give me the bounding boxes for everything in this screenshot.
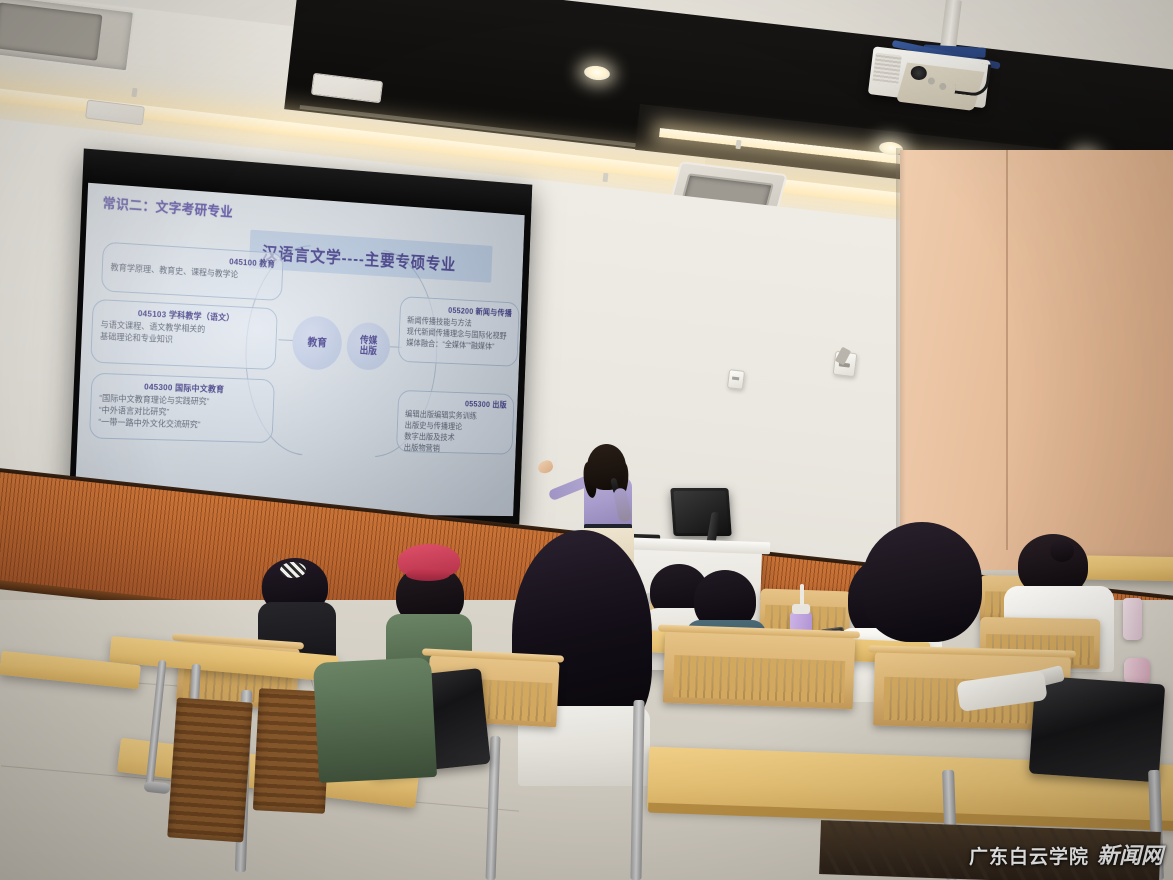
slide-node-045103: 045103 学科教学（语文） 与语文课程、语文教学相关的 基础理论和专业知识 xyxy=(90,299,278,370)
cap-brim xyxy=(406,568,450,581)
sprinkler-icon xyxy=(735,140,741,150)
lecture-hall-photo: 常识二：文字考研专业 汉语言文学----主要专硕专业 教育 传媒 出版 xyxy=(0,0,1173,880)
node-code: 055300 出版 xyxy=(405,396,507,411)
presenter-pointing-hand xyxy=(536,459,554,475)
podium-monitor xyxy=(670,488,731,536)
sprinkler-icon xyxy=(131,88,137,98)
watermark: 广东白云学院 新闻网 xyxy=(969,838,1163,870)
slide-node-045100: 045100 教育 教育学原理、教育史、课程与教学论 xyxy=(101,242,284,301)
wall-seam xyxy=(1006,150,1008,550)
node-desc: “国际中文教育理论与实践研究” “中外语言对比研究” “一带一路中外文化交流研究… xyxy=(98,393,266,433)
slide-node-055200: 055200 新闻与传播 新闻传播技能与方法 现代新闻传播理念与国际化视野 媒体… xyxy=(398,296,520,367)
student-body xyxy=(313,657,437,783)
screen-surface: 常识二：文字考研专业 汉语言文学----主要专硕专业 教育 传媒 出版 xyxy=(74,183,524,516)
ceiling-projector xyxy=(861,12,1011,116)
watermark-institution: 广东白云学院 xyxy=(969,842,1089,869)
hub-label-line1: 传媒 xyxy=(360,335,378,347)
projection-screen: 常识二：文字考研专业 汉语言文学----主要专硕专业 教育 传媒 出版 xyxy=(68,148,532,524)
hub-label-line2: 出版 xyxy=(359,346,377,358)
wall-outlet-icon xyxy=(727,369,745,390)
slide-content: 常识二：文字考研专业 汉语言文学----主要专硕专业 教育 传媒 出版 xyxy=(74,183,524,516)
bottle-straw xyxy=(800,584,804,606)
right-wall xyxy=(900,150,1173,570)
slide-node-045300: 045300 国际中文教育 “国际中文教育理论与实践研究” “中外语言对比研究”… xyxy=(89,373,275,443)
projector-vent-icon xyxy=(872,53,901,86)
node-desc: 编辑出版编辑实务训练 出版史与传播理论 数字出版及技术 出版物营销 xyxy=(404,409,507,456)
hair-bun-icon xyxy=(1050,540,1074,562)
hub-label: 教育 xyxy=(307,337,327,350)
wall-corner-shadow xyxy=(896,148,906,568)
sprinkler-icon xyxy=(602,173,608,183)
presenter-hair xyxy=(587,444,626,490)
water-bottle xyxy=(1123,598,1142,640)
seat-back xyxy=(663,631,855,710)
wooden-chair xyxy=(167,698,253,843)
watermark-site: 新闻网 xyxy=(1097,838,1163,870)
water-bottle xyxy=(1124,658,1150,684)
mindmap-hub-education: 教育 xyxy=(291,315,342,371)
hair-clip-icon xyxy=(280,562,306,578)
node-desc: 新闻传播技能与方法 现代新闻传播理念与国际化视野 媒体融合：“全媒体”“融媒体” xyxy=(406,315,512,353)
backpack xyxy=(1029,676,1166,783)
slide-node-055300: 055300 出版 编辑出版编辑实务训练 出版史与传播理论 数字出版及技术 出版… xyxy=(396,390,515,455)
student-hair xyxy=(862,522,982,642)
slide-title: 常识二：文字考研专业 xyxy=(102,192,233,221)
